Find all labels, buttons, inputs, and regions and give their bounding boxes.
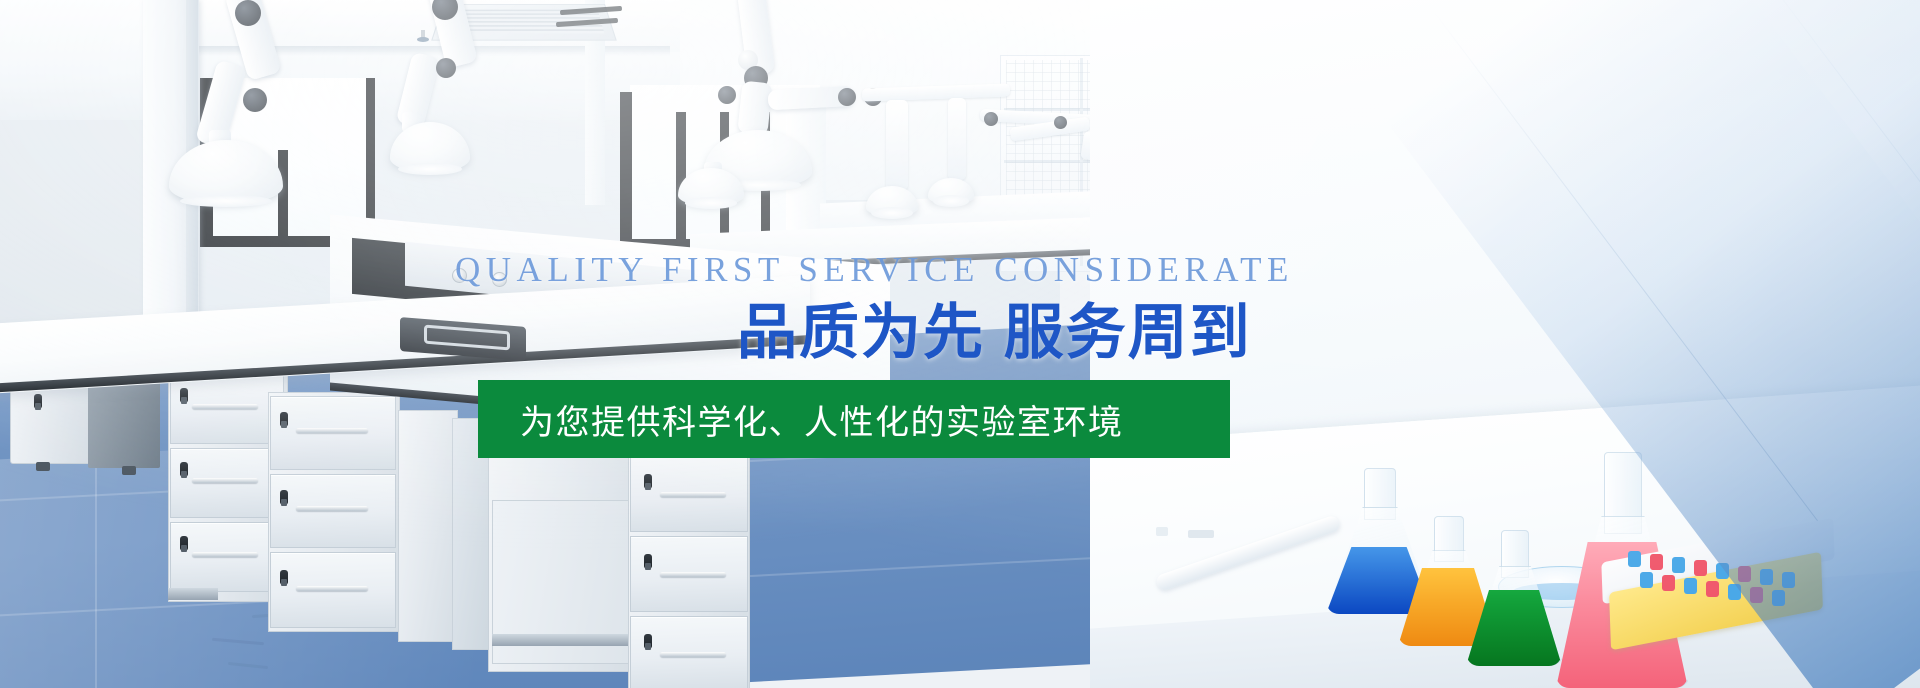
banner-text-block: QUALITY FIRST SERVICE CONSIDERATE 品质为先 服… bbox=[0, 0, 1920, 688]
subtitle-chinese: 为您提供科学化、人性化的实验室环境 bbox=[520, 380, 1230, 458]
english-tagline: QUALITY FIRST SERVICE CONSIDERATE bbox=[455, 252, 1294, 287]
headline-chinese: 品质为先 服务周到 bbox=[737, 300, 1252, 366]
subtitle-bar: 为您提供科学化、人性化的实验室环境 bbox=[478, 380, 1230, 458]
hero-banner: QUALITY FIRST SERVICE CONSIDERATE 品质为先 服… bbox=[0, 0, 1920, 688]
